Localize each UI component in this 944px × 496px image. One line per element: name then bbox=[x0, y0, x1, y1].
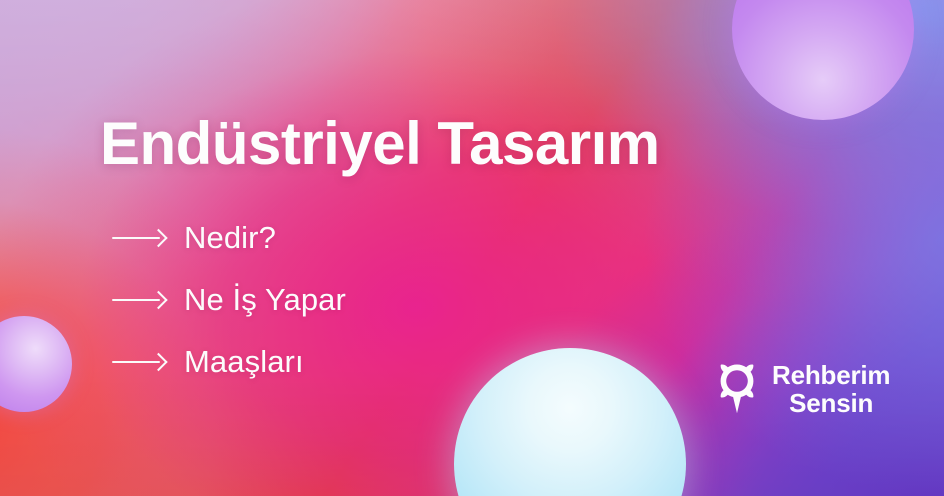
list-item: Nedir? bbox=[112, 212, 346, 264]
arrow-right-icon bbox=[112, 292, 166, 308]
list-item: Maaşları bbox=[112, 336, 346, 388]
map-pin-compass-icon bbox=[714, 363, 760, 415]
list-item: Ne İş Yapar bbox=[112, 274, 346, 326]
brand-name-line-1: Rehberim bbox=[772, 362, 890, 388]
brand-logo: Rehberim Sensin bbox=[714, 362, 890, 416]
promo-banner: Endüstriyel Tasarım Nedir? Ne İş Yapar M… bbox=[0, 0, 944, 496]
topic-list: Nedir? Ne İş Yapar Maaşları bbox=[112, 212, 346, 388]
arrow-right-icon bbox=[112, 230, 166, 246]
page-title: Endüstriyel Tasarım bbox=[100, 112, 660, 175]
list-item-label: Nedir? bbox=[184, 220, 276, 256]
list-item-label: Ne İş Yapar bbox=[184, 282, 346, 318]
banner-content: Endüstriyel Tasarım Nedir? Ne İş Yapar M… bbox=[0, 0, 944, 496]
brand-logo-text: Rehberim Sensin bbox=[772, 362, 890, 416]
list-item-label: Maaşları bbox=[184, 344, 304, 380]
arrow-right-icon bbox=[112, 354, 166, 370]
brand-name-line-2: Sensin bbox=[772, 390, 890, 416]
